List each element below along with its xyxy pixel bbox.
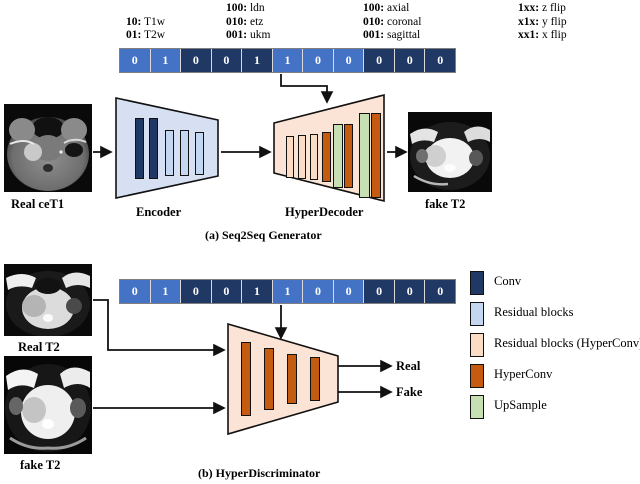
label-output-fake: Fake <box>396 385 422 400</box>
legend-label-residual: Residual blocks <box>494 305 574 320</box>
code-cell[interactable]: 0 <box>425 280 455 303</box>
encoder-layer-residual-3 <box>195 132 204 175</box>
code-cell[interactable]: 1 <box>151 49 182 72</box>
code-bits: 10: <box>126 16 141 28</box>
label-real-t2: Real T2 <box>18 340 60 355</box>
decoder-layer-upsample-2 <box>359 113 370 198</box>
decoder-layer-res-hyper-3 <box>310 134 318 180</box>
caption-panel-b: (b) HyperDiscriminator <box>198 466 320 481</box>
caption-panel-a: (a) Seq2Seq Generator <box>205 228 322 243</box>
label-hyperdecoder: HyperDecoder <box>285 205 363 220</box>
code-cell[interactable]: 0 <box>364 49 395 72</box>
code-legend-entry: 100: ldn <box>226 2 270 16</box>
code-cell[interactable]: 1 <box>273 49 304 72</box>
mri-fake-t2 <box>408 112 492 192</box>
decoder-layer-res-hyper-2 <box>298 135 306 179</box>
code-legend-column-sequence: 10: T1w 01: T2w <box>126 16 165 43</box>
decoder-layer-hyperconv-1 <box>322 132 331 182</box>
arrow-realt2-to-discriminator <box>93 300 224 350</box>
code-cell[interactable]: 0 <box>303 280 334 303</box>
code-text: y flip <box>539 16 566 28</box>
legend-label-hyperconv: HyperConv <box>494 367 552 382</box>
code-cell[interactable]: 1 <box>151 280 182 303</box>
decoder-layer-hyperconv-3 <box>371 113 381 198</box>
code-legend-entry: 1xx: z flip <box>518 2 567 16</box>
code-cell[interactable]: 1 <box>242 280 273 303</box>
code-bits: 100: <box>226 2 247 14</box>
code-cell[interactable]: 0 <box>395 280 426 303</box>
code-bits: xx1: <box>518 29 539 41</box>
code-bits: 1xx: <box>518 2 539 14</box>
discriminator-layer-hyperconv-1 <box>241 342 251 416</box>
code-legend-entry: 010: etz <box>226 16 270 30</box>
encoder-layer-residual-1 <box>165 130 174 176</box>
mri-real-t2 <box>4 264 92 336</box>
code-cell[interactable]: 0 <box>303 49 334 72</box>
label-output-real: Real <box>396 359 420 374</box>
mri-fake-t2-input <box>4 356 92 454</box>
legend-swatch-upsample <box>470 395 484 419</box>
conditioning-code-bar-discriminator[interactable]: 01001100000 <box>119 279 456 304</box>
code-legend-entry: x1x: y flip <box>518 16 567 30</box>
code-text: z flip <box>539 2 566 14</box>
discriminator-layer-hyperconv-2 <box>264 348 274 410</box>
code-text: T1w <box>141 16 165 28</box>
code-text: sagittal <box>384 29 420 41</box>
code-text: ukm <box>247 29 270 41</box>
label-fake-t2-generator: fake T2 <box>425 197 465 212</box>
code-text: axial <box>384 2 409 14</box>
code-cell[interactable]: 0 <box>425 49 455 72</box>
code-cell[interactable]: 0 <box>120 49 151 72</box>
code-cell[interactable]: 0 <box>334 49 365 72</box>
discriminator-layer-hyperconv-4 <box>310 357 320 401</box>
legend-label-conv: Conv <box>494 274 521 289</box>
code-legend-entry: 001: sagittal <box>363 29 421 43</box>
figure-root: 10: T1w 01: T2w 100: ldn 010: etz 001: u… <box>0 0 640 484</box>
code-bits: 001: <box>363 29 384 41</box>
decoder-layer-upsample-1 <box>333 124 343 188</box>
code-bits: 010: <box>363 16 384 28</box>
code-text: etz <box>247 16 263 28</box>
code-cell[interactable]: 0 <box>334 280 365 303</box>
legend-swatch-hyperconv <box>470 364 484 388</box>
code-legend-entry: 100: axial <box>363 2 421 16</box>
code-text: ldn <box>247 2 265 14</box>
code-bits: 010: <box>226 16 247 28</box>
code-legend-column-site: 100: ldn 010: etz 001: ukm <box>226 2 270 43</box>
code-legend-column-flip: 1xx: z flip x1x: y flip xx1: x flip <box>518 2 567 43</box>
code-bits: 001: <box>226 29 247 41</box>
legend-swatch-residual <box>470 302 484 326</box>
code-cell[interactable]: 0 <box>364 280 395 303</box>
legend-swatch-residual-hyperconv <box>470 333 484 357</box>
legend-swatch-conv <box>470 271 484 295</box>
code-cell[interactable]: 0 <box>212 49 243 72</box>
code-bits: 100: <box>363 2 384 14</box>
code-legend-column-orientation: 100: axial 010: coronal 001: sagittal <box>363 2 421 43</box>
label-real-cet1: Real ceT1 <box>11 197 64 212</box>
code-legend-header: 10: T1w 01: T2w 100: ldn 010: etz 001: u… <box>118 2 538 44</box>
decoder-layer-hyperconv-2 <box>344 124 353 188</box>
code-legend-entry: 10: T1w <box>126 16 165 30</box>
code-cell[interactable]: 0 <box>120 280 151 303</box>
decoder-layer-res-hyper-1 <box>286 136 294 178</box>
code-bits: x1x: <box>518 16 539 28</box>
legend-label-residual-hyperconv: Residual blocks (HyperConv) <box>494 336 640 351</box>
code-bits: 01: <box>126 29 141 41</box>
mri-real-cet1 <box>4 104 92 192</box>
code-cell[interactable]: 0 <box>181 280 212 303</box>
code-legend-entry: 01: T2w <box>126 29 165 43</box>
encoder-layer-conv-1 <box>135 118 144 179</box>
code-text: T2w <box>141 29 165 41</box>
code-cell[interactable]: 0 <box>181 49 212 72</box>
code-text: x flip <box>539 29 566 41</box>
code-cell[interactable]: 1 <box>273 280 304 303</box>
code-cell[interactable]: 1 <box>242 49 273 72</box>
label-encoder: Encoder <box>136 205 181 220</box>
code-cell[interactable]: 0 <box>395 49 426 72</box>
discriminator-layer-hyperconv-3 <box>287 354 297 404</box>
code-text: coronal <box>384 16 421 28</box>
label-fake-t2-discriminator: fake T2 <box>20 458 60 473</box>
code-cell[interactable]: 0 <box>212 280 243 303</box>
legend-label-upsample: UpSample <box>494 398 547 413</box>
code-legend-entry: 010: coronal <box>363 16 421 30</box>
conditioning-code-bar-generator[interactable]: 01001100000 <box>119 48 456 73</box>
code-legend-entry: xx1: x flip <box>518 29 567 43</box>
encoder-layer-conv-2 <box>149 118 158 179</box>
encoder-layer-residual-2 <box>180 130 189 176</box>
code-legend-entry: 001: ukm <box>226 29 270 43</box>
